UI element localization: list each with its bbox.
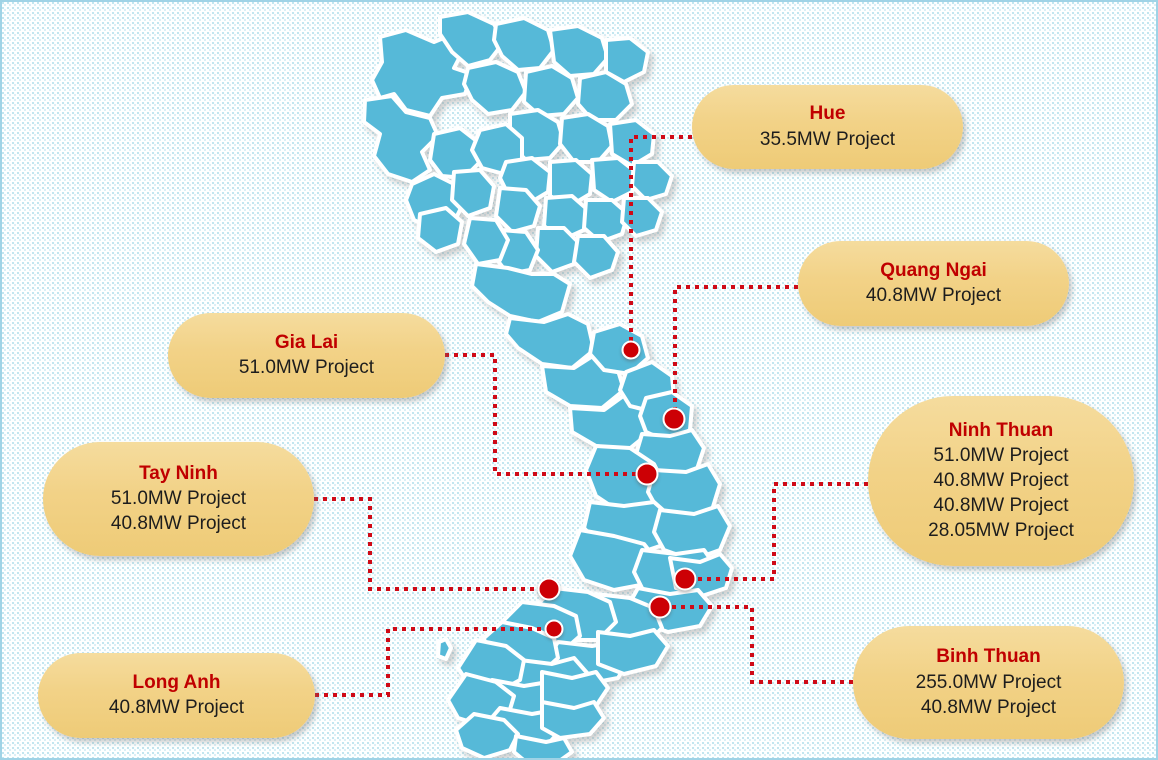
callout-project-line: 51.0MW Project xyxy=(239,355,374,380)
callout-title: Long Anh xyxy=(133,671,221,696)
callout-project-line: 40.8MW Project xyxy=(111,511,246,536)
callout-project-line: 40.8MW Project xyxy=(109,695,244,720)
callout-project-line: 40.8MW Project xyxy=(866,283,1001,308)
marker-hue[interactable] xyxy=(622,341,641,360)
marker-ninh-thuan[interactable] xyxy=(674,568,697,591)
callout-title: Quang Ngai xyxy=(880,259,987,284)
callout-title: Hue xyxy=(810,102,846,127)
callout-project-line: 40.8MW Project xyxy=(921,695,1056,720)
callout-long-anh[interactable]: Long Anh 40.8MW Project xyxy=(38,653,315,738)
callout-title: Gia Lai xyxy=(275,331,338,356)
callout-title: Ninh Thuan xyxy=(949,419,1053,444)
connector-tay-ninh xyxy=(314,499,541,589)
marker-tay-ninh[interactable] xyxy=(538,578,561,601)
callout-gia-lai[interactable]: Gia Lai 51.0MW Project xyxy=(168,313,445,398)
connector-gia-lai xyxy=(445,355,639,474)
connector-hue xyxy=(631,137,692,346)
callout-project-line: 255.0MW Project xyxy=(916,670,1062,695)
marker-binh-thuan[interactable] xyxy=(649,596,672,619)
map-infographic: Hue 35.5MW Project Quang Ngai 40.8MW Pro… xyxy=(0,0,1158,760)
callout-project-line: 28.05MW Project xyxy=(928,518,1074,543)
callout-project-line: 51.0MW Project xyxy=(111,486,246,511)
callout-project-line: 51.0MW Project xyxy=(933,443,1068,468)
marker-long-anh[interactable] xyxy=(545,620,564,639)
callout-project-line: 35.5MW Project xyxy=(760,127,895,152)
connector-binh-thuan xyxy=(668,607,853,682)
callout-project-line: 40.8MW Project xyxy=(933,468,1068,493)
callout-project-line: 40.8MW Project xyxy=(933,493,1068,518)
connector-ninh-thuan xyxy=(692,484,868,579)
connector-long-anh xyxy=(315,629,546,695)
callout-binh-thuan[interactable]: Binh Thuan 255.0MW Project 40.8MW Projec… xyxy=(853,626,1124,739)
marker-quang-ngai[interactable] xyxy=(663,408,686,431)
callout-tay-ninh[interactable]: Tay Ninh 51.0MW Project 40.8MW Project xyxy=(43,442,314,556)
callout-title: Tay Ninh xyxy=(139,462,218,487)
callout-quang-ngai[interactable]: Quang Ngai 40.8MW Project xyxy=(798,241,1069,326)
callout-hue[interactable]: Hue 35.5MW Project xyxy=(692,85,963,169)
marker-gia-lai[interactable] xyxy=(636,463,659,486)
callout-title: Binh Thuan xyxy=(936,645,1040,670)
connector-quang-ngai xyxy=(675,287,798,413)
callout-ninh-thuan[interactable]: Ninh Thuan 51.0MW Project 40.8MW Project… xyxy=(868,396,1134,566)
